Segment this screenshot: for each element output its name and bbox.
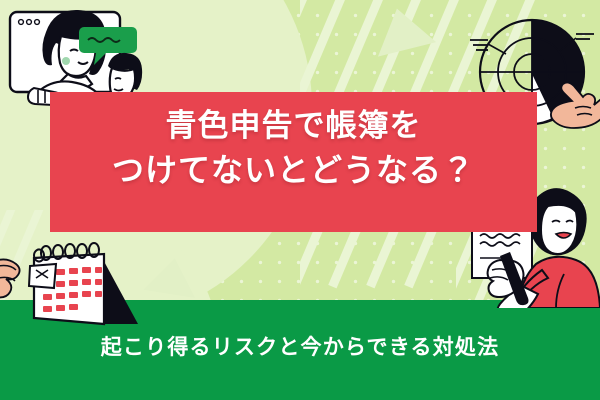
page-title: 青色申告で帳簿を つけてないとどうなる？ xyxy=(50,104,537,193)
calendar-illustration xyxy=(0,232,166,337)
title-line-1: 青色申告で帳簿を xyxy=(50,104,537,148)
title-line-2: つけてないとどうなる？ xyxy=(50,148,537,193)
thumbnail-canvas: 青色申告で帳簿を つけてないとどうなる？ 起こり得るリスクと今からできる対処法 xyxy=(0,0,600,400)
page-subtitle: 起こり得るリスクと今からできる対処法 xyxy=(0,331,600,361)
